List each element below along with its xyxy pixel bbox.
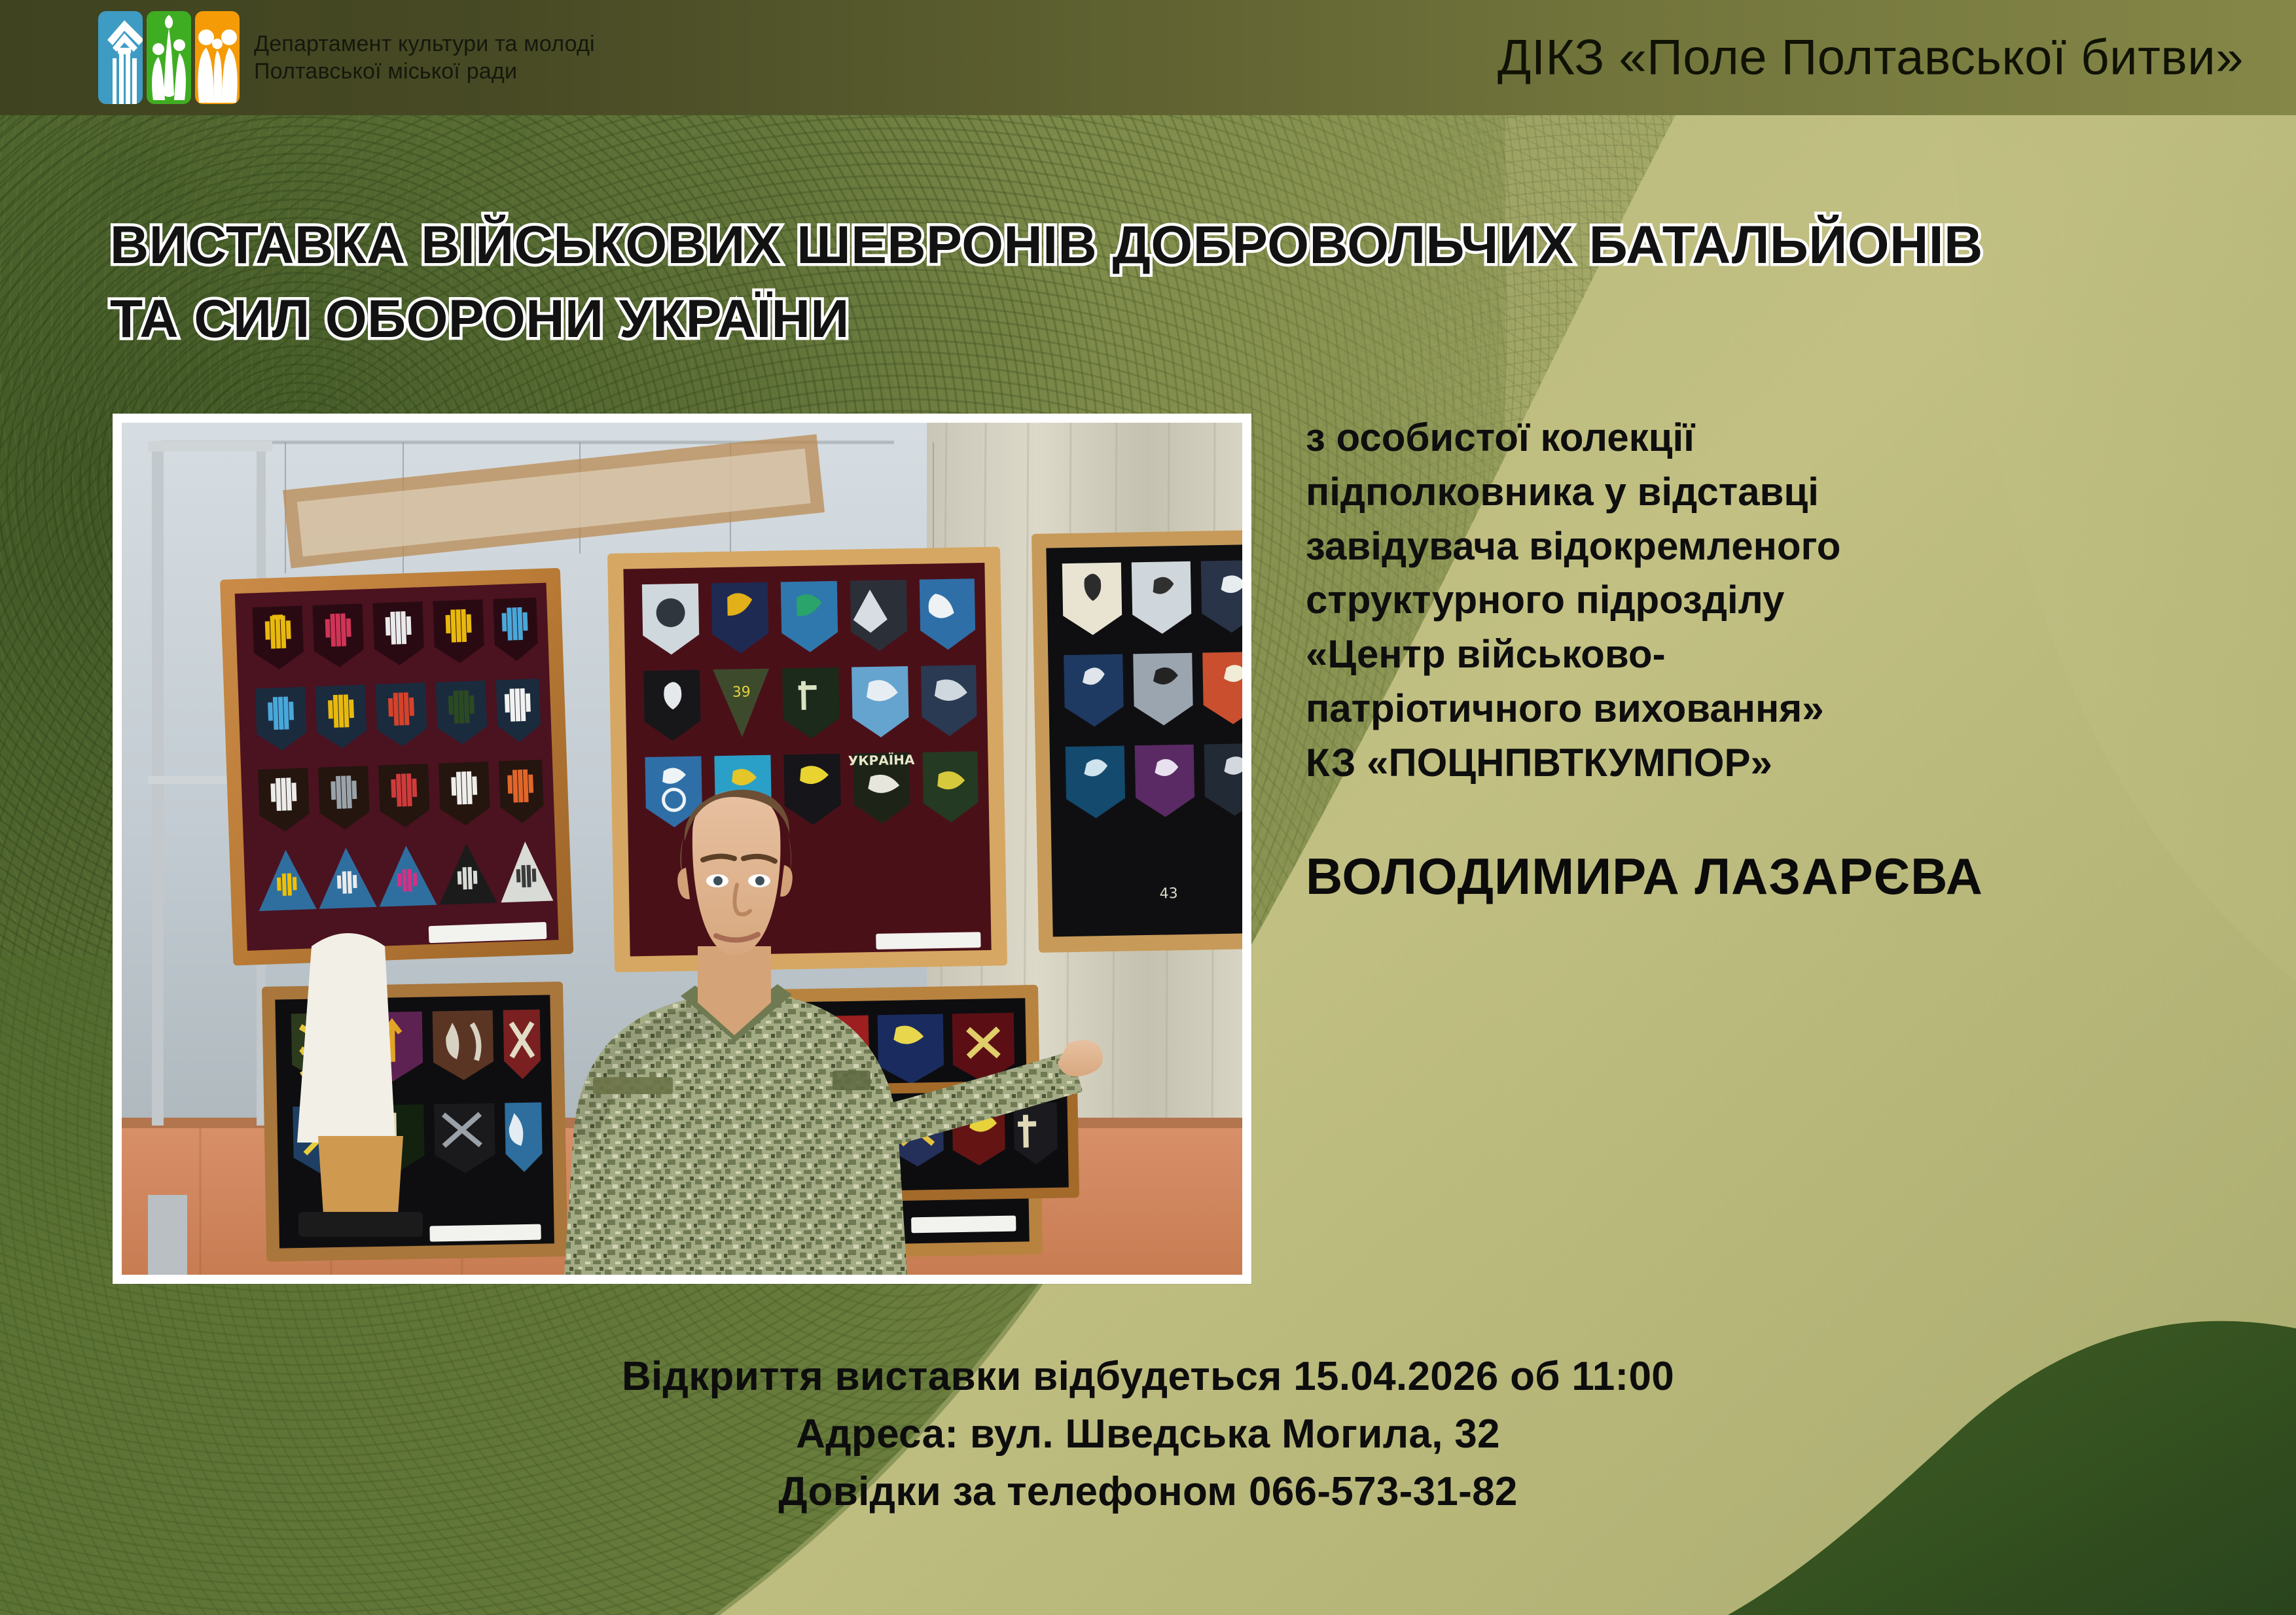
description-line-1: з особистої колекції bbox=[1306, 411, 2242, 465]
honoree-name: ВОЛОДИМИРА ЛАЗАРЄВА bbox=[1306, 847, 2242, 906]
exhibition-photo: 39 bbox=[122, 423, 1242, 1275]
logo-tiles bbox=[98, 11, 240, 104]
logo-line-2: Полтавської міської ради bbox=[254, 58, 595, 86]
logo-text-block: Департамент культури та молоді Полтавськ… bbox=[254, 30, 595, 86]
description-line-3: завідувача відокремленого bbox=[1306, 520, 2242, 574]
collection-description: з особистої колекції підполковника у від… bbox=[1306, 411, 2242, 790]
exhibition-photo-frame: 39 bbox=[113, 414, 1251, 1284]
institution-title: ДІКЗ «Поле Полтавської битви» bbox=[1498, 29, 2244, 86]
svg-text:39: 39 bbox=[732, 684, 751, 700]
headline-line-2: ТА СИЛ ОБОРОНИ УКРАЇНИ bbox=[110, 282, 2008, 356]
svg-text:43: 43 bbox=[1159, 885, 1177, 902]
description-line-5: «Центр військово- bbox=[1306, 628, 2242, 682]
description-line-4: структурного підрозділу bbox=[1306, 573, 2242, 628]
blue-column-tile-icon bbox=[98, 11, 143, 104]
green-figure-tile-icon bbox=[147, 11, 191, 104]
description-column: з особистої колекції підполковника у від… bbox=[1306, 411, 2242, 906]
logo-line-1: Департамент культури та молоді bbox=[254, 30, 595, 58]
opening-datetime: Відкриття виставки відбудеться 15.04.202… bbox=[0, 1348, 2296, 1406]
venue-address: Адреса: вул. Шведська Могила, 32 bbox=[0, 1406, 2296, 1463]
headline-line-1: ВИСТАВКА ВІЙСЬКОВИХ ШЕВРОНІВ ДОБРОВОЛЬЧИ… bbox=[110, 208, 2008, 282]
event-details: Відкриття виставки відбудеться 15.04.202… bbox=[0, 1348, 2296, 1521]
description-line-2: підполковника у відставці bbox=[1306, 465, 2242, 520]
header-bar: Департамент культури та молоді Полтавськ… bbox=[0, 0, 2296, 115]
department-logo: Департамент культури та молоді Полтавськ… bbox=[98, 11, 595, 104]
poster-canvas: Департамент культури та молоді Полтавськ… bbox=[0, 0, 2296, 1615]
orange-family-tile-icon bbox=[195, 11, 240, 104]
contact-phone: Довідки за телефоном 066-573-31-82 bbox=[0, 1463, 2296, 1521]
description-line-7: КЗ «ПОЦНПВТКУМПОР» bbox=[1306, 736, 2242, 790]
svg-text:УКРАЇНА: УКРАЇНА bbox=[848, 752, 915, 769]
description-line-6: патріотичного виховання» bbox=[1306, 682, 2242, 736]
page-title: ВИСТАВКА ВІЙСЬКОВИХ ШЕВРОНІВ ДОБРОВОЛЬЧИ… bbox=[110, 208, 2008, 356]
